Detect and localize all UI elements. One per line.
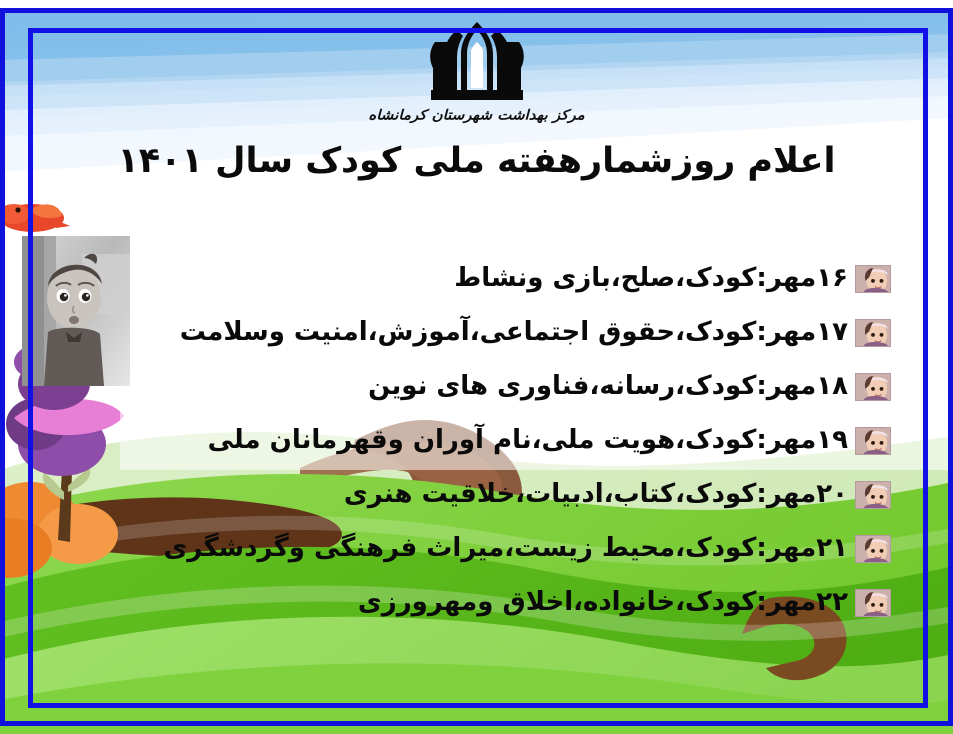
schedule-item-text: ۱۶مهر:کودک،صلح،بازی ونشاط (454, 264, 848, 294)
child-portrait-icon (855, 481, 891, 509)
schedule-item-text: ۱۸مهر:کودک،رسانه،فناوری های نوین (368, 372, 848, 402)
logo-block: مرکز بهداشت شهرستان کرمانشاه (0, 16, 953, 124)
list-item: ۱۹مهر:کودک،هویت ملی،نام آوران وقهرمانان … (120, 414, 891, 468)
logo-caption: مرکز بهداشت شهرستان کرمانشاه (368, 107, 584, 124)
schedule-item-text: ۲۱مهر:کودک،محیط زیست،میراث فرهنگی وگردشگ… (163, 534, 848, 564)
list-item: ۱۷مهر:کودک،حقوق اجتماعی،آموزش،امنیت وسلا… (120, 306, 891, 360)
page-title: اعلام روزشمارهفته ملی کودک سال ۱۴۰۱ (0, 140, 953, 184)
list-item: ۱۸مهر:کودک،رسانه،فناوری های نوین (120, 360, 891, 414)
child-portrait-icon (855, 319, 891, 347)
list-item: ۲۲مهر:کودک،خانواده،اخلاق ومهرورزی (120, 576, 891, 630)
schedule-item-text: ۲۰مهر:کودک،کتاب،ادبیات،خلاقیت هنری (344, 480, 848, 510)
poster-root: مرکز بهداشت شهرستان کرمانشاه اعلام روزشم… (0, 0, 953, 734)
list-item: ۱۶مهر:کودک،صلح،بازی ونشاط (120, 252, 891, 306)
child-portrait-icon (855, 427, 891, 455)
schedule-item-text: ۱۷مهر:کودک،حقوق اجتماعی،آموزش،امنیت وسلا… (180, 318, 848, 348)
schedule-list: ۱۶مهر:کودک،صلح،بازی ونشاط ۱۷مهر:کودک،حقو… (120, 252, 891, 630)
child-portrait-icon (855, 265, 891, 293)
schedule-item-text: ۱۹مهر:کودک،هویت ملی،نام آوران وقهرمانان … (208, 426, 848, 456)
list-item: ۲۱مهر:کودک،محیط زیست،میراث فرهنگی وگردشگ… (120, 522, 891, 576)
organization-logo-icon (417, 16, 537, 104)
schedule-item-text: ۲۲مهر:کودک،خانواده،اخلاق ومهرورزی (358, 588, 848, 618)
child-portrait-icon (855, 535, 891, 563)
child-portrait-icon (855, 373, 891, 401)
child-photo-grayscale (22, 236, 130, 386)
child-portrait-icon (855, 589, 891, 617)
list-item: ۲۰مهر:کودک،کتاب،ادبیات،خلاقیت هنری (120, 468, 891, 522)
